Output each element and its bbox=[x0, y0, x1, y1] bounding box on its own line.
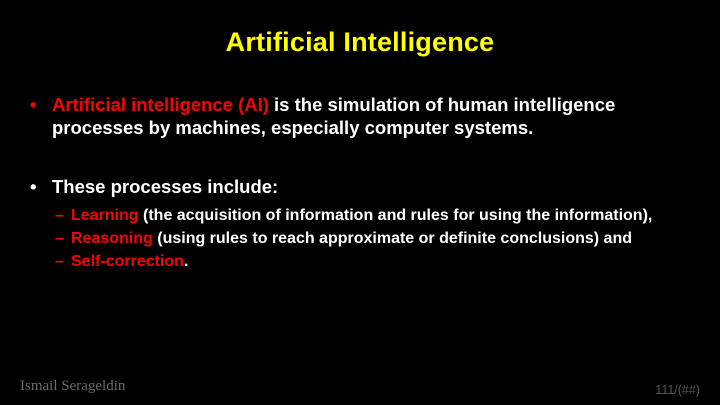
bullet-marker-icon: • bbox=[30, 176, 52, 199]
bullet-body-text: These processes include: bbox=[52, 176, 278, 197]
sub-bullet-body-text: (using rules to reach approximate or def… bbox=[153, 230, 632, 247]
dash-marker-icon: – bbox=[55, 206, 71, 226]
sub-bullet-body-text: . bbox=[184, 253, 188, 270]
dash-marker-icon: – bbox=[55, 252, 71, 272]
slide-body: • Artificial intelligence (AI) is the si… bbox=[30, 94, 698, 275]
sub-bullet-highlight-term: Learning bbox=[71, 207, 139, 224]
sub-bullet-highlight-term: Reasoning bbox=[71, 230, 153, 247]
spacer bbox=[30, 140, 698, 176]
sub-bullet-list: – Learning (the acquisition of informati… bbox=[55, 206, 698, 272]
slide: Artificial Intelligence • Artificial int… bbox=[0, 0, 720, 405]
dash-marker-icon: – bbox=[55, 229, 71, 249]
footer-author: Ismail Serageldin bbox=[20, 378, 125, 395]
bullet-marker-icon: • bbox=[30, 94, 52, 117]
sub-bullet-item-self-correction: – Self-correction. bbox=[55, 252, 698, 272]
sub-bullet-text: Reasoning (using rules to reach approxim… bbox=[71, 229, 698, 249]
sub-bullet-highlight-term: Self-correction bbox=[71, 253, 184, 270]
page-title: Artificial Intelligence bbox=[0, 28, 720, 58]
footer-page-number: 111/(##) bbox=[655, 383, 700, 397]
sub-bullet-item-reasoning: – Reasoning (using rules to reach approx… bbox=[55, 229, 698, 249]
bullet-highlight-term: Artificial intelligence (AI) bbox=[52, 94, 269, 115]
sub-bullet-text: Learning (the acquisition of information… bbox=[71, 206, 698, 226]
bullet-text: These processes include: bbox=[52, 176, 698, 199]
sub-bullet-text: Self-correction. bbox=[71, 252, 698, 272]
bullet-item-definition: • Artificial intelligence (AI) is the si… bbox=[30, 94, 698, 140]
sub-bullet-item-learning: – Learning (the acquisition of informati… bbox=[55, 206, 698, 226]
bullet-item-processes: • These processes include: bbox=[30, 176, 698, 199]
sub-bullet-body-text: (the acquisition of information and rule… bbox=[139, 207, 653, 224]
bullet-text: Artificial intelligence (AI) is the simu… bbox=[52, 94, 698, 140]
